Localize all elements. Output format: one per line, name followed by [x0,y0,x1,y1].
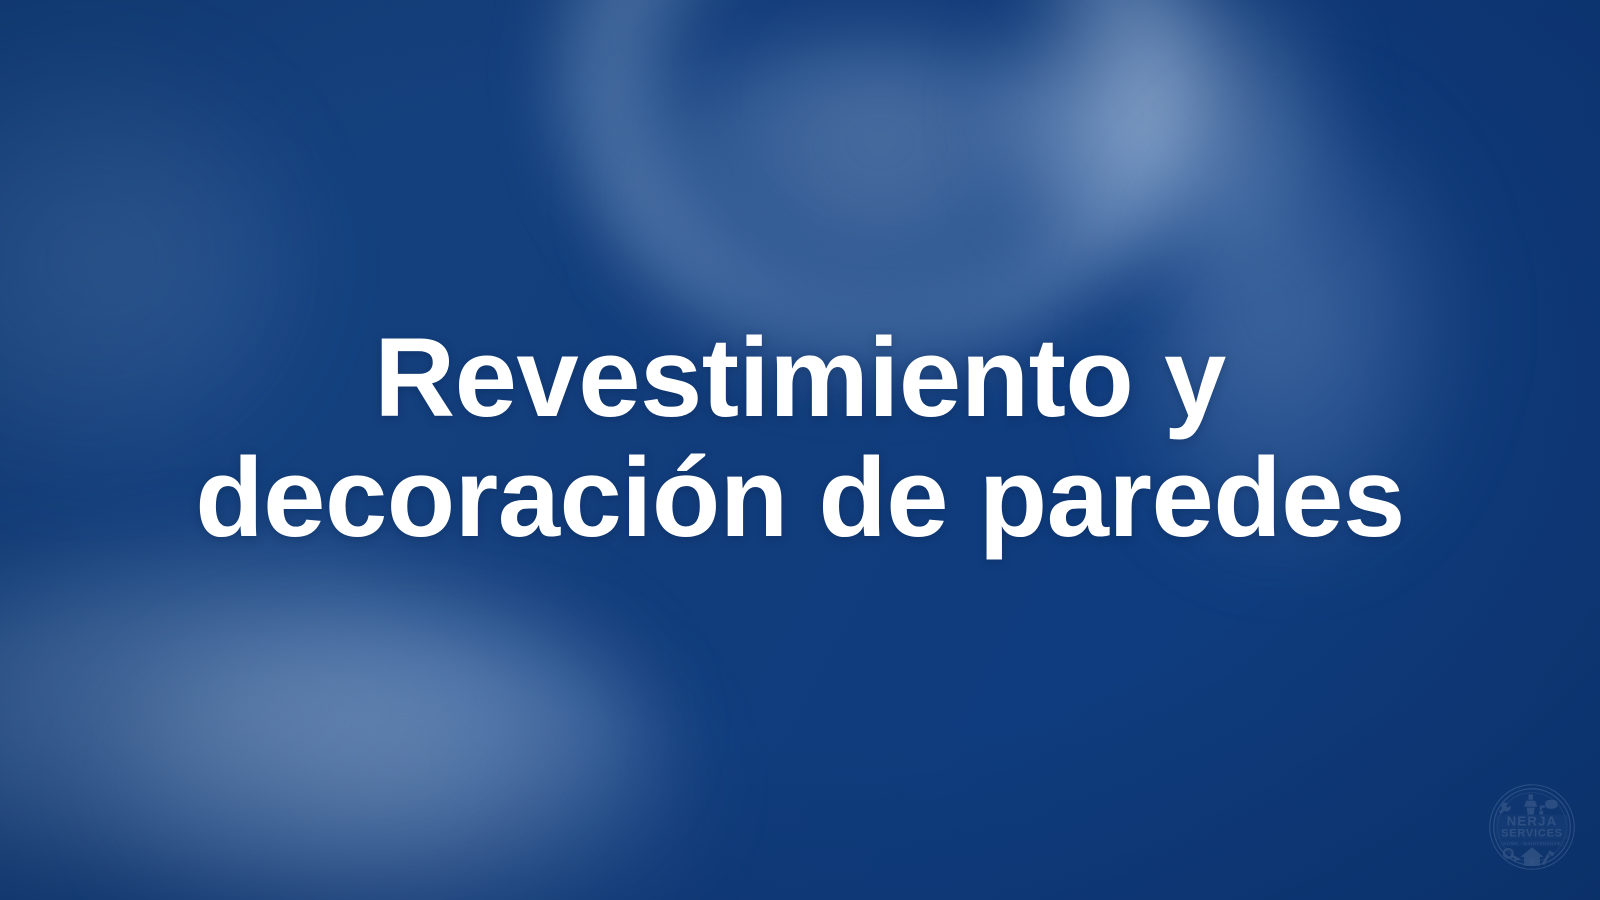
title-container: Revestimiento y decoración de paredes [0,0,1600,900]
logo-brand-nerja: NERJA [1507,814,1558,829]
logo-tagline: HOME · MAINTENANCE [1503,841,1560,846]
badge-icon: NERJA SERVICES HOME · MAINTENANCE [1488,782,1576,872]
slide-title: Revestimiento y decoración de paredes [155,318,1445,558]
nerja-services-logo-watermark: NERJA SERVICES HOME · MAINTENANCE [1488,782,1576,872]
logo-brand-services: SERVICES [1501,828,1563,840]
slide-canvas: Revestimiento y decoración de paredes NE… [0,0,1600,900]
